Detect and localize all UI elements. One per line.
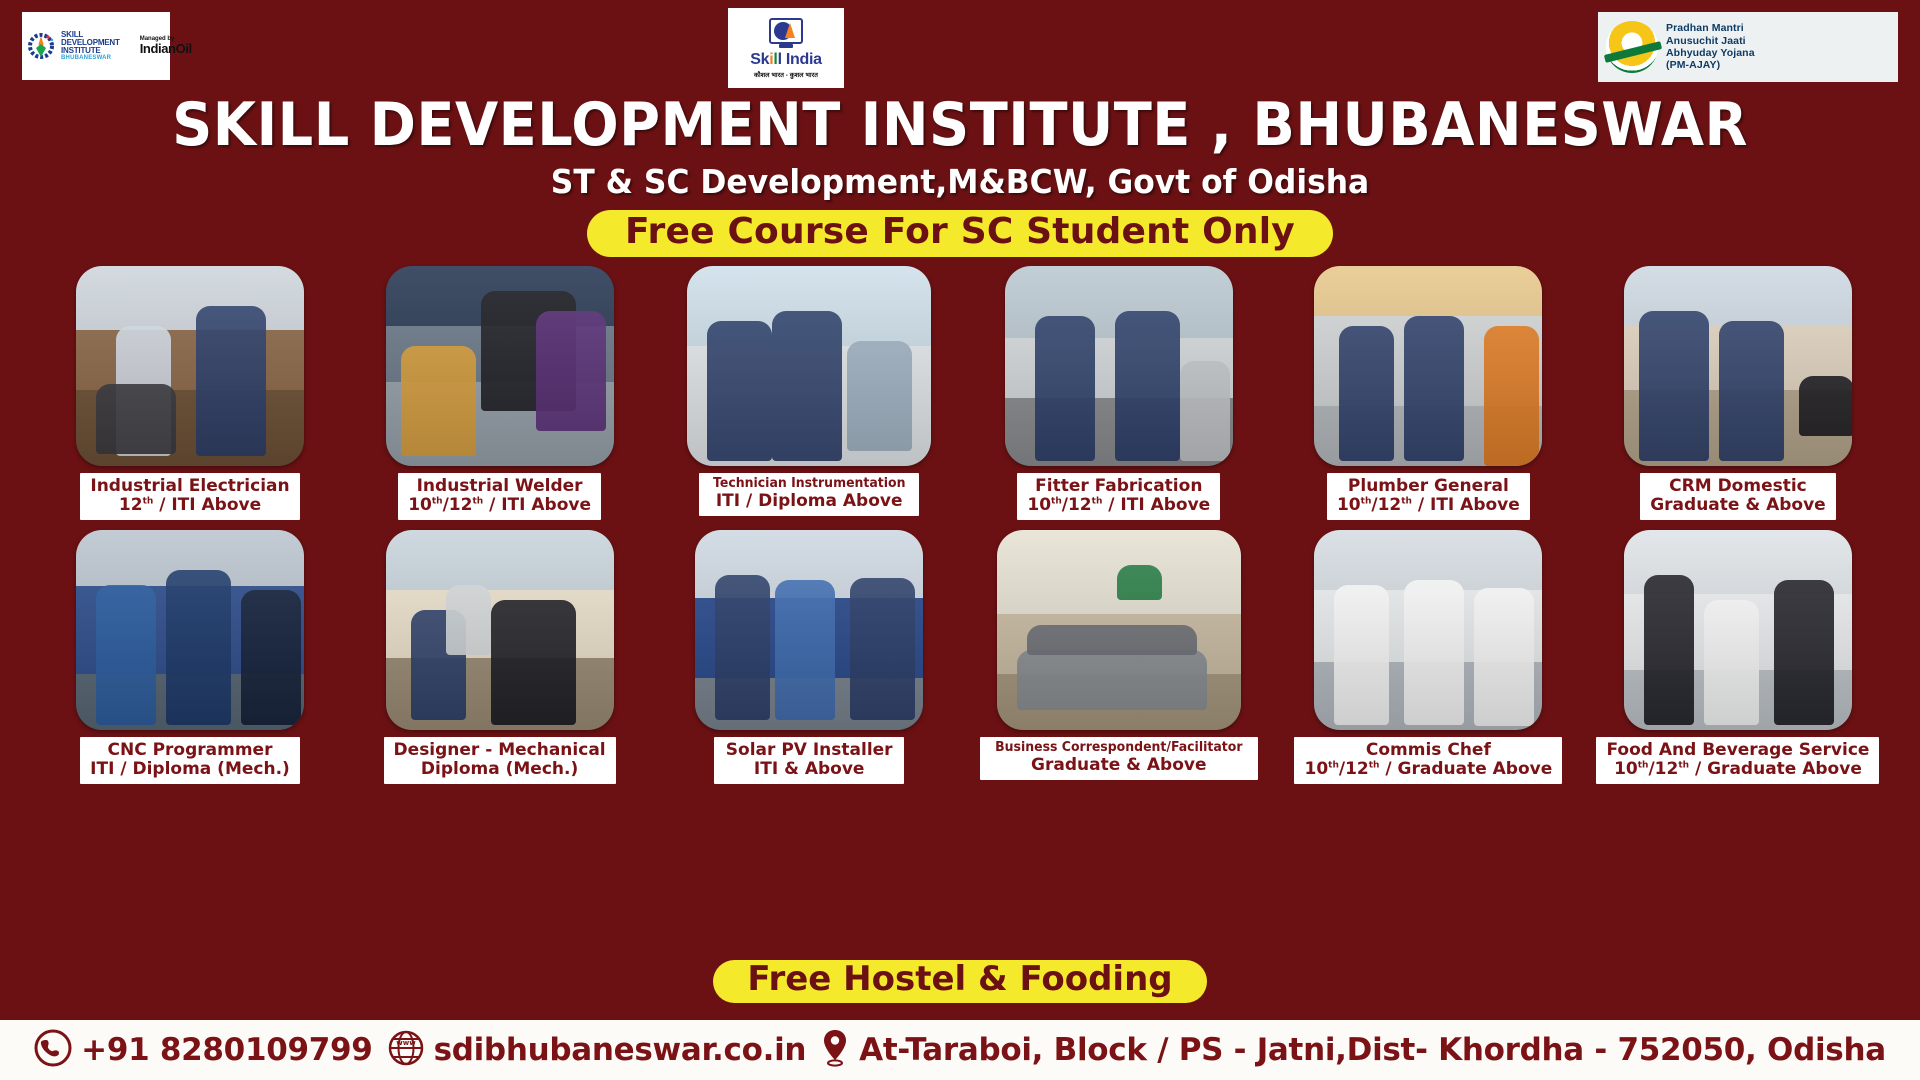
course-card[interactable]: Designer - MechanicalDiploma (Mech.) bbox=[354, 530, 646, 784]
course-label: Fitter Fabrication10th/12th / ITI Above bbox=[1017, 473, 1220, 520]
course-label: Food And Beverage Service10th/12th / Gra… bbox=[1596, 737, 1879, 784]
sdi-line3: INSTITUTE bbox=[61, 47, 120, 55]
page-title: SKILL DEVELOPMENT INSTITUTE , BHUBANESWA… bbox=[67, 95, 1853, 155]
course-qualification: ITI & Above bbox=[724, 760, 894, 779]
address-text: At-Taraboi, Block / PS - Jatni,Dist- Kho… bbox=[859, 1032, 1886, 1068]
course-name: Business Correspondent/Facilitator bbox=[995, 741, 1242, 756]
course-card[interactable]: Industrial Electrician12th / ITI Above bbox=[44, 266, 336, 520]
course-qualification: Graduate & Above bbox=[990, 756, 1248, 775]
course-photo bbox=[687, 266, 931, 466]
skill-development-institute-logo: SKILL DEVELOPMENT INSTITUTE BHUBANESWAR … bbox=[22, 12, 170, 80]
course-card[interactable]: Solar PV InstallerITI & Above bbox=[663, 530, 955, 784]
course-qualification: ITI / Diploma Above bbox=[709, 492, 910, 511]
course-label: Commis Chef10th/12th / Graduate Above bbox=[1294, 737, 1562, 784]
course-photo bbox=[695, 530, 923, 730]
logo-bar: SKILL DEVELOPMENT INSTITUTE BHUBANESWAR … bbox=[0, 0, 1920, 96]
www-globe-icon: www bbox=[387, 1029, 425, 1072]
course-card[interactable]: Industrial Welder10th/12th / ITI Above bbox=[354, 266, 646, 520]
course-name: Industrial Electrician bbox=[90, 477, 289, 496]
course-label: CNC ProgrammerITI / Diploma (Mech.) bbox=[80, 737, 300, 784]
course-name: Plumber General bbox=[1337, 477, 1520, 496]
course-row-2: CNC ProgrammerITI / Diploma (Mech.)Desig… bbox=[44, 530, 1884, 784]
course-label: Designer - MechanicalDiploma (Mech.) bbox=[384, 737, 616, 784]
pm-ajay-seal-icon bbox=[1606, 21, 1658, 73]
course-name: Food And Beverage Service bbox=[1606, 741, 1869, 760]
course-name: Designer - Mechanical bbox=[394, 741, 606, 760]
course-qualification: 12th / ITI Above bbox=[90, 496, 289, 515]
course-name: CNC Programmer bbox=[90, 741, 290, 760]
course-card[interactable]: Business Correspondent/FacilitatorGradua… bbox=[973, 530, 1265, 784]
course-photo bbox=[1005, 266, 1233, 466]
course-card[interactable]: Technician InstrumentationITI / Diploma … bbox=[663, 266, 955, 520]
address-contact: At-Taraboi, Block / PS - Jatni,Dist- Kho… bbox=[820, 1028, 1886, 1073]
course-name: Solar PV Installer bbox=[724, 741, 894, 760]
course-qualification: Graduate & Above bbox=[1650, 496, 1826, 515]
course-photo bbox=[1314, 266, 1542, 466]
sdi-emblem-icon bbox=[28, 32, 56, 60]
course-photo bbox=[386, 266, 614, 466]
course-qualification: Diploma (Mech.) bbox=[394, 760, 606, 779]
contact-bar: +91 8280109799 www sdibhubaneswar.co.in … bbox=[0, 1018, 1920, 1080]
course-card[interactable]: CRM DomesticGraduate & Above bbox=[1592, 266, 1884, 520]
phone-number: +91 8280109799 bbox=[81, 1032, 372, 1068]
pm-ajay-line1: Pradhan Mantri bbox=[1666, 22, 1755, 34]
course-card[interactable]: Fitter Fabrication10th/12th / ITI Above bbox=[973, 266, 1265, 520]
course-qualification: 10th/12th / Graduate Above bbox=[1606, 760, 1869, 779]
free-course-banner: Free Course For SC Student Only bbox=[587, 210, 1333, 257]
course-label: Plumber General10th/12th / ITI Above bbox=[1327, 473, 1530, 520]
course-label: CRM DomesticGraduate & Above bbox=[1640, 473, 1836, 520]
skill-india-monitor-icon bbox=[769, 18, 803, 44]
map-pin-icon bbox=[820, 1028, 850, 1073]
indianoil-label: IndianOil bbox=[140, 42, 192, 56]
pm-ajay-line4: (PM-AJAY) bbox=[1666, 59, 1755, 71]
course-name: Commis Chef bbox=[1304, 741, 1552, 760]
course-name: Fitter Fabrication bbox=[1027, 477, 1210, 496]
pm-ajay-logo: Pradhan Mantri Anusuchit Jaati Abhyuday … bbox=[1598, 12, 1898, 82]
course-photo bbox=[1624, 266, 1852, 466]
course-card[interactable]: Plumber General10th/12th / ITI Above bbox=[1282, 266, 1574, 520]
sdi-line4: BHUBANESWAR bbox=[61, 55, 120, 61]
skill-india-title: Skill India bbox=[750, 51, 821, 69]
course-qualification: 10th/12th / ITI Above bbox=[1337, 496, 1520, 515]
phone-icon bbox=[34, 1029, 72, 1072]
course-card[interactable]: Food And Beverage Service10th/12th / Gra… bbox=[1592, 530, 1884, 784]
course-name: CRM Domestic bbox=[1650, 477, 1826, 496]
course-qualification: ITI / Diploma (Mech.) bbox=[90, 760, 290, 779]
course-qualification: 10th/12th / ITI Above bbox=[1027, 496, 1210, 515]
free-hostel-banner: Free Hostel & Fooding bbox=[713, 960, 1206, 1003]
page-subtitle: ST & SC Development,M&BCW, Govt of Odish… bbox=[48, 165, 1872, 198]
course-label: Business Correspondent/FacilitatorGradua… bbox=[980, 737, 1258, 780]
pm-ajay-line2: Anusuchit Jaati bbox=[1666, 35, 1755, 47]
website-url: sdibhubaneswar.co.in bbox=[434, 1032, 807, 1068]
course-name: Technician Instrumentation bbox=[713, 477, 906, 492]
course-grid: Industrial Electrician12th / ITI AboveIn… bbox=[44, 266, 1884, 784]
course-label: Technician InstrumentationITI / Diploma … bbox=[699, 473, 920, 516]
course-photo bbox=[1314, 530, 1542, 730]
course-photo bbox=[997, 530, 1241, 730]
course-photo bbox=[76, 266, 304, 466]
course-row-1: Industrial Electrician12th / ITI AboveIn… bbox=[44, 266, 1884, 520]
course-label: Industrial Welder10th/12th / ITI Above bbox=[398, 473, 601, 520]
course-name: Industrial Welder bbox=[408, 477, 591, 496]
skill-india-logo: Skill India कौशल भारत - कुशल भारत bbox=[728, 8, 844, 88]
course-photo bbox=[1624, 530, 1852, 730]
course-card[interactable]: CNC ProgrammerITI / Diploma (Mech.) bbox=[44, 530, 336, 784]
course-photo bbox=[386, 530, 614, 730]
phone-contact[interactable]: +91 8280109799 bbox=[34, 1029, 372, 1072]
course-qualification: 10th/12th / ITI Above bbox=[408, 496, 591, 515]
course-label: Solar PV InstallerITI & Above bbox=[714, 737, 904, 784]
title-block: SKILL DEVELOPMENT INSTITUTE , BHUBANESWA… bbox=[0, 95, 1920, 257]
hostel-banner-wrap: Free Hostel & Fooding bbox=[0, 960, 1920, 1003]
course-card[interactable]: Commis Chef10th/12th / Graduate Above bbox=[1282, 530, 1574, 784]
course-qualification: 10th/12th / Graduate Above bbox=[1304, 760, 1552, 779]
course-label: Industrial Electrician12th / ITI Above bbox=[80, 473, 299, 520]
pm-ajay-line3: Abhyuday Yojana bbox=[1666, 47, 1755, 59]
svg-text:www: www bbox=[396, 1039, 416, 1047]
website-contact[interactable]: www sdibhubaneswar.co.in bbox=[387, 1029, 807, 1072]
skill-india-tagline: कौशल भारत - कुशल भारत bbox=[754, 70, 818, 79]
course-photo bbox=[76, 530, 304, 730]
